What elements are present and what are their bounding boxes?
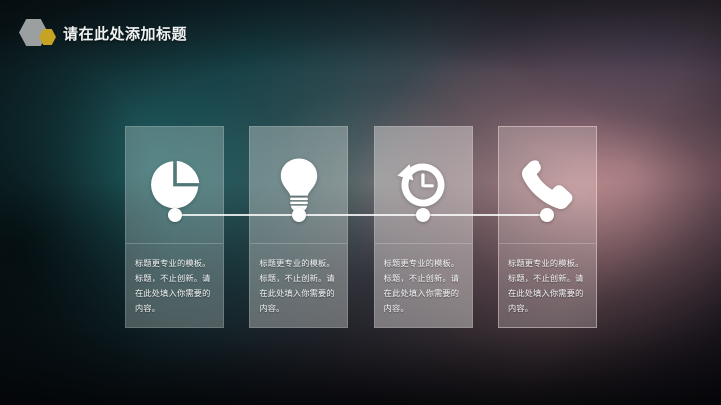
card-2-text: 标题更专业的模板。标题，不止创新。请在此处填入你需要的内容。	[259, 256, 338, 316]
card-4[interactable]: 标题更专业的模板。标题，不止创新。请在此处填入你需要的内容。	[498, 126, 597, 328]
page-title: 请在此处添加标题	[63, 23, 187, 44]
card-3-body: 标题更专业的模板。标题，不止创新。请在此处填入你需要的内容。	[375, 244, 472, 327]
title-hexagon-logo	[19, 18, 61, 48]
card-3-icon-area	[375, 127, 472, 244]
card-4-icon-area	[499, 127, 596, 244]
card-1-body: 标题更专业的模板。标题，不止创新。请在此处填入你需要的内容。	[126, 244, 223, 327]
card-3[interactable]: 标题更专业的模板。标题，不止创新。请在此处填入你需要的内容。	[374, 126, 473, 328]
card-2-icon-area	[250, 127, 347, 244]
card-2[interactable]: 标题更专业的模板。标题，不止创新。请在此处填入你需要的内容。	[249, 126, 348, 328]
slide-title-row: 请在此处添加标题	[19, 17, 187, 49]
history-clock-icon	[394, 158, 452, 212]
card-row: 标题更专业的模板。标题，不止创新。请在此处填入你需要的内容。	[125, 126, 597, 328]
card-1-icon-area	[126, 127, 223, 244]
pie-chart-icon	[148, 158, 202, 212]
card-1[interactable]: 标题更专业的模板。标题，不止创新。请在此处填入你需要的内容。	[125, 126, 224, 328]
card-2-body: 标题更专业的模板。标题，不止创新。请在此处填入你需要的内容。	[250, 244, 347, 327]
card-3-text: 标题更专业的模板。标题，不止创新。请在此处填入你需要的内容。	[384, 256, 463, 316]
lightbulb-icon	[279, 157, 319, 213]
slide-canvas: 请在此处添加标题 标题更专业的模板。标题，不止创新。请在此处填入你需要的内容。	[0, 0, 721, 405]
card-4-body: 标题更专业的模板。标题，不止创新。请在此处填入你需要的内容。	[499, 244, 596, 327]
card-1-text: 标题更专业的模板。标题，不止创新。请在此处填入你需要的内容。	[135, 256, 214, 316]
card-4-text: 标题更专业的模板。标题，不止创新。请在此处填入你需要的内容。	[508, 256, 587, 316]
phone-icon	[520, 158, 574, 212]
